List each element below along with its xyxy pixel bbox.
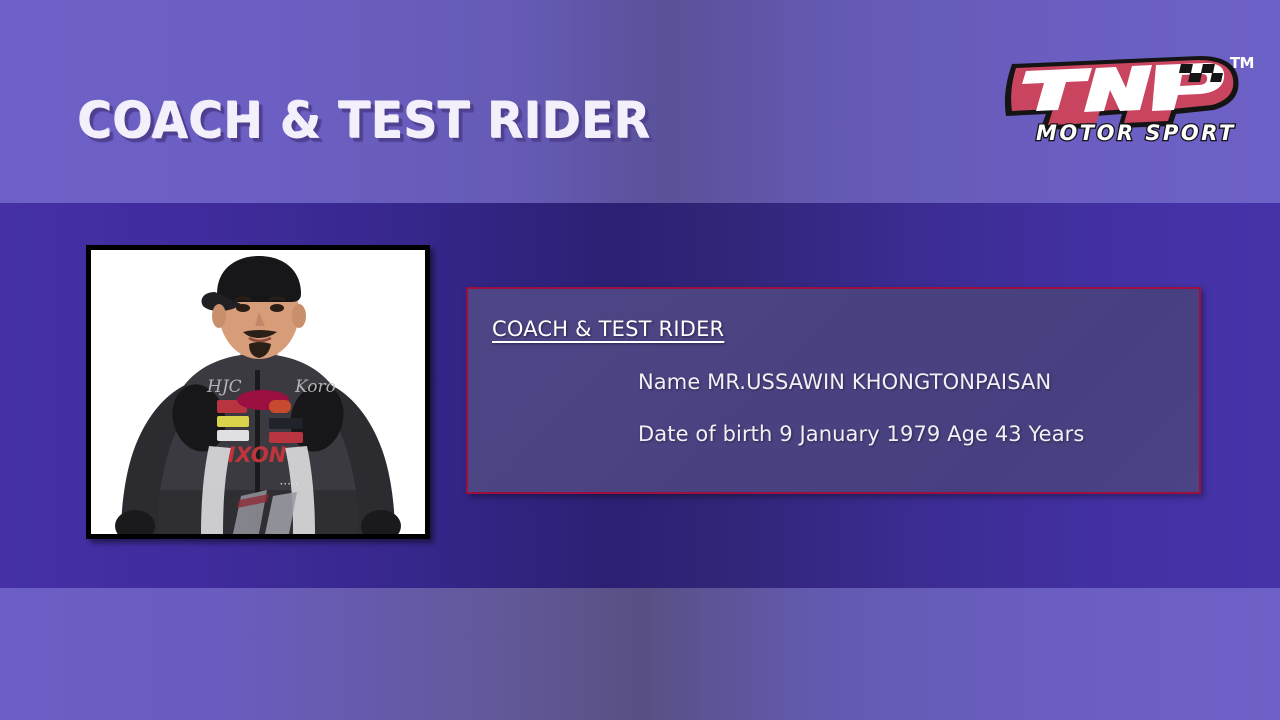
info-line-name: Name MR.USSAWIN KHONGTONPAISAN xyxy=(638,370,1051,394)
tnp-motor-sport-logo: MOTOR SPORT TM xyxy=(1000,40,1258,148)
rider-info-box: COACH & TEST RIDER Name MR.USSAWIN KHONG… xyxy=(466,287,1201,494)
rider-photo: IXON ····· HJC Koro xyxy=(86,245,430,539)
info-box-heading: COACH & TEST RIDER xyxy=(492,317,724,341)
svg-text:MOTOR SPORT: MOTOR SPORT xyxy=(1036,121,1236,145)
page-title: COACH & TEST RIDER xyxy=(78,92,651,150)
svg-text:IXON: IXON xyxy=(228,443,287,467)
rider-photo-canvas: IXON ····· HJC Koro xyxy=(91,250,425,534)
rider-illustration: IXON ····· HJC Koro xyxy=(91,250,425,534)
svg-text:Koro: Koro xyxy=(294,377,336,397)
info-line-dob: Date of birth 9 January 1979 Age 43 Year… xyxy=(638,422,1084,446)
slide: COACH & TEST RIDER xyxy=(0,0,1280,720)
svg-text:HJC: HJC xyxy=(206,377,242,397)
trademark-symbol: TM xyxy=(1230,54,1254,72)
svg-text:·····: ····· xyxy=(279,477,298,491)
logo-mark-icon: MOTOR SPORT xyxy=(1000,40,1258,148)
bottom-band xyxy=(0,588,1280,720)
